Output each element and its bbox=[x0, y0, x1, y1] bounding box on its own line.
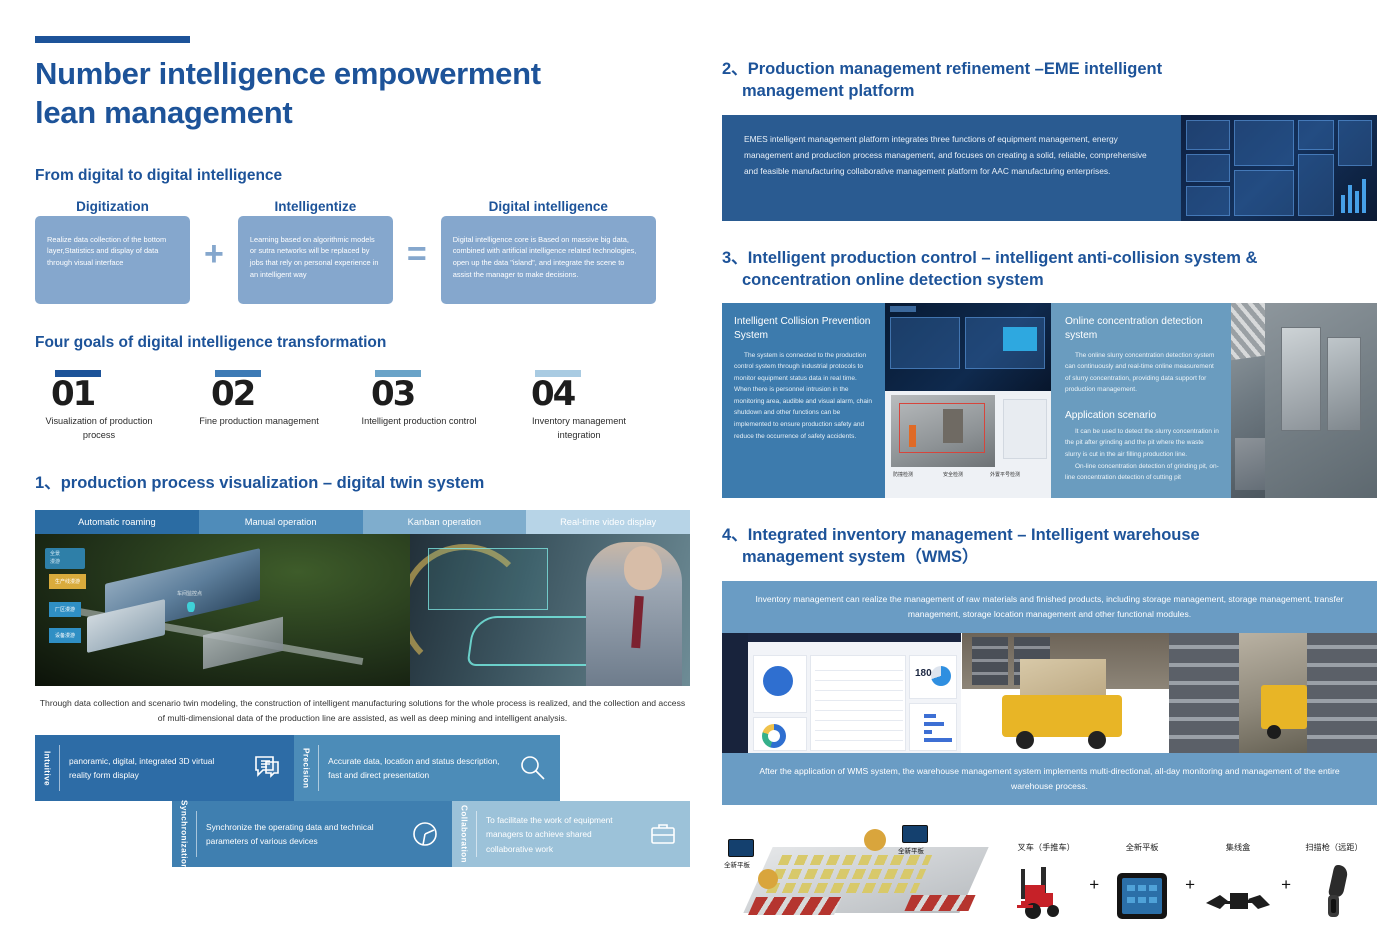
feature-vertical-label: Collaboration bbox=[452, 801, 476, 867]
warehouse-rack-left bbox=[1169, 633, 1239, 753]
tablet-icon bbox=[1099, 859, 1185, 921]
spacer bbox=[35, 801, 172, 867]
cabinet-unit bbox=[1327, 337, 1361, 431]
dashboard-panel bbox=[1298, 154, 1334, 216]
pie-chart-icon bbox=[398, 801, 452, 867]
kpi-gauge bbox=[931, 666, 951, 686]
forklift-warehouse-photo bbox=[962, 633, 1169, 753]
table-row-line bbox=[815, 730, 903, 731]
forklift-wheel bbox=[1267, 725, 1281, 739]
chart-bar bbox=[924, 714, 936, 718]
dashboard-titlebar bbox=[722, 633, 961, 642]
layout-trucks bbox=[748, 897, 842, 915]
dashboard-panel bbox=[1186, 120, 1230, 150]
tab-kanban-operation[interactable]: Kanban operation bbox=[363, 510, 527, 534]
wms-dashboard-screenshot: 180 bbox=[722, 633, 962, 753]
goal-item: 04 Inventory management integration bbox=[515, 370, 675, 442]
table-row-line bbox=[815, 690, 903, 691]
holo-schematic-panel bbox=[428, 548, 548, 610]
equipment-separator: + bbox=[1089, 875, 1099, 921]
person-detected bbox=[909, 425, 916, 447]
equipment-label: 扫描枪（远距） bbox=[1291, 841, 1377, 853]
twin-tabs: Automatic roaming Manual operation Kanba… bbox=[35, 510, 690, 534]
chart-bar bbox=[924, 730, 932, 734]
dti-body: Realize data collection of the bottom la… bbox=[35, 216, 190, 304]
section-four-goals: Four goals of digital intelligence trans… bbox=[35, 334, 690, 442]
map-pin-icon bbox=[187, 602, 195, 612]
tab-manual-operation[interactable]: Manual operation bbox=[199, 510, 363, 534]
section-2-heading-line2: management platform bbox=[722, 80, 1377, 102]
goal-item: 01 Visualization of production process bbox=[35, 370, 195, 442]
forklift-icon bbox=[1003, 859, 1089, 921]
dashboard-panel bbox=[1234, 120, 1294, 166]
magnifier-icon bbox=[506, 735, 560, 801]
tab-automatic-roaming[interactable]: Automatic roaming bbox=[35, 510, 199, 534]
feature-text: Synchronize the operating data and techn… bbox=[206, 801, 398, 867]
dashboard-panel bbox=[1338, 120, 1372, 166]
forklift-circle-badge-2 bbox=[758, 869, 778, 889]
equipment-label: 集线盒 bbox=[1195, 841, 1281, 853]
equipment-block bbox=[943, 409, 963, 443]
goal-item: 03 Intelligent production control bbox=[355, 370, 515, 442]
section-2-heading: 2、Production management refinement –EME … bbox=[722, 58, 1377, 103]
collision-system-screenshot: 防撞检测 安全检测 外置平号检测 bbox=[885, 303, 1051, 498]
section-4-heading-line2: management system（WMS） bbox=[722, 546, 1377, 568]
section-3-number: 3、 bbox=[722, 249, 748, 267]
barcode-scanner-icon bbox=[1291, 859, 1377, 921]
forklift-circle-badge bbox=[864, 829, 886, 851]
dashboard-panel bbox=[1298, 120, 1334, 150]
dti-caption: Intelligentize bbox=[238, 199, 393, 214]
table-row-line bbox=[815, 700, 903, 701]
section-1-number: 1、 bbox=[35, 474, 61, 492]
pipe-equipment-photo bbox=[1231, 303, 1265, 498]
equipment-tablet: 全新平板 bbox=[1099, 841, 1185, 921]
machinery-body bbox=[1235, 438, 1265, 490]
operator-equals: = bbox=[393, 199, 441, 271]
equipment-separator: + bbox=[1185, 875, 1195, 921]
section-from-digital: From digital to digital intelligence Dig… bbox=[35, 167, 690, 304]
goal-number: 01 bbox=[51, 377, 195, 413]
chart-bar bbox=[924, 722, 944, 726]
dashboard-logo bbox=[890, 306, 916, 312]
page-title-line2: lean management bbox=[35, 94, 690, 133]
section-1: 1、production process visualization – dig… bbox=[35, 472, 690, 867]
dti-card-digitization: Digitization Realize data collection of … bbox=[35, 199, 190, 304]
page-title-line1: Number intelligence empowerment bbox=[35, 55, 690, 94]
hub-box-icon bbox=[1195, 859, 1281, 921]
aerial-roaming-tag: 全景 漫游 bbox=[45, 548, 85, 569]
chart-bar bbox=[1348, 185, 1352, 213]
section-2-heading-line1: Production management refinement –EME in… bbox=[748, 60, 1162, 78]
warehouse-rack bbox=[972, 637, 1008, 685]
agv-wheel bbox=[1088, 731, 1106, 749]
chart-bar bbox=[1362, 179, 1366, 213]
twin-photo-row: 全景 漫游 生产线漫游 厂区漫游 设备漫游 车间监控点 bbox=[35, 534, 690, 686]
dti-body: Digital intelligence core is Based on ma… bbox=[441, 216, 656, 304]
screenshot-label: 外置平号检测 bbox=[990, 471, 1020, 478]
spacer bbox=[560, 735, 690, 801]
concentration-panel-body: The online slurry concentration detectio… bbox=[1065, 350, 1219, 396]
tab-realtime-video[interactable]: Real-time video display bbox=[526, 510, 690, 534]
chat-bubble-icon bbox=[240, 735, 294, 801]
table-row-line bbox=[815, 680, 903, 681]
map-label-right: 全新平板 bbox=[898, 845, 924, 855]
section-4-heading-line1: Integrated inventory management – Intell… bbox=[748, 526, 1200, 544]
warehouse-aisle-photo bbox=[1169, 633, 1377, 753]
section-1-heading-text: production process visualization – digit… bbox=[61, 474, 485, 492]
table-row-line bbox=[815, 740, 903, 741]
section-b-heading: Four goals of digital intelligence trans… bbox=[35, 334, 690, 352]
application-scenario-title: Application scenario bbox=[1065, 410, 1219, 421]
holographic-display-photo bbox=[410, 534, 690, 686]
feature-divider bbox=[59, 745, 60, 791]
dti-row: Digitization Realize data collection of … bbox=[35, 199, 690, 304]
dashboard-card-kpi: 180 bbox=[909, 655, 957, 699]
equipment-hub-box: 集线盒 bbox=[1195, 841, 1281, 921]
wms-footer-text: After the application of WMS system, the… bbox=[722, 753, 1377, 805]
aerial-chip-3[interactable]: 设备漫游 bbox=[49, 628, 81, 643]
feature-text: panoramic, digital, integrated 3D virtua… bbox=[69, 735, 240, 801]
warehouse-rack-right bbox=[1307, 633, 1377, 753]
dashboard-sidebar bbox=[722, 633, 748, 753]
equipment-label: 全新平板 bbox=[1099, 841, 1185, 853]
dti-caption: Digitization bbox=[35, 199, 190, 214]
aerial-parking-lot bbox=[203, 617, 283, 669]
donut-hole bbox=[768, 730, 780, 742]
layout-goods-row bbox=[778, 855, 932, 865]
control-cabinet-photo bbox=[1265, 303, 1377, 498]
feature-divider bbox=[318, 745, 319, 791]
operator-plus: + bbox=[190, 199, 238, 271]
goal-label: Visualization of production process bbox=[35, 415, 163, 442]
goal-label: Intelligent production control bbox=[355, 415, 483, 428]
collision-prevention-panel: Intelligent Collision Prevention System … bbox=[722, 303, 885, 498]
chart-bar bbox=[924, 738, 952, 742]
briefcase-icon bbox=[636, 801, 690, 867]
feature-quadrants: Intuitive panoramic, digital, integrated… bbox=[35, 735, 690, 867]
concentration-detection-panel: Online concentration detection system Th… bbox=[1051, 303, 1231, 498]
dti-card-digital-intelligence: Digital intelligence Digital intelligenc… bbox=[441, 199, 656, 304]
feature-vertical-label: Intuitive bbox=[35, 735, 59, 801]
section-3-heading: 3、Intelligent production control – intel… bbox=[722, 247, 1377, 292]
right-column: 2、Production management refinement –EME … bbox=[722, 0, 1377, 921]
section-3-heading-line1: Intelligent production control – intelli… bbox=[748, 249, 1258, 267]
monitoring-dashboard bbox=[885, 303, 1051, 391]
map-label-left: 全新平板 bbox=[724, 859, 750, 869]
screenshot-label: 防撞检测 bbox=[893, 471, 913, 478]
wms-media-row: 180 bbox=[722, 633, 1377, 753]
layout-trucks bbox=[904, 895, 975, 911]
application-scenario-body: It can be used to detect the slurry conc… bbox=[1065, 426, 1219, 461]
kpi-value: 180 bbox=[915, 668, 932, 679]
goal-number: 04 bbox=[531, 377, 675, 413]
feature-precision: Precision Accurate data, location and st… bbox=[294, 735, 560, 801]
feature-vertical-label: Precision bbox=[294, 735, 318, 801]
section-2-number: 2、 bbox=[722, 60, 748, 78]
person-head bbox=[624, 546, 662, 590]
wms-intro-text: Inventory management can realize the man… bbox=[722, 581, 1377, 633]
page-title: Number intelligence empowerment lean man… bbox=[35, 55, 690, 133]
section-1-heading: 1、production process visualization – dig… bbox=[35, 472, 690, 494]
infographic-page: Number intelligence empowerment lean man… bbox=[0, 0, 1400, 949]
equipment-separator: + bbox=[1281, 875, 1291, 921]
dashboard-panel bbox=[1186, 186, 1230, 216]
aerial-chip-2[interactable]: 厂区漫游 bbox=[49, 602, 81, 617]
stats-side-panel bbox=[1003, 399, 1047, 459]
equipment-scanner: 扫描枪（远距） bbox=[1291, 841, 1377, 921]
section-4: 4、Integrated inventory management – Inte… bbox=[722, 524, 1377, 921]
goal-number: 03 bbox=[371, 377, 515, 413]
collision-panel-body: The system is connected to the productio… bbox=[734, 350, 873, 443]
screenshot-label: 安全检测 bbox=[943, 471, 963, 478]
aerial-chip-1[interactable]: 生产线漫游 bbox=[49, 574, 86, 589]
concentration-panel-title: Online concentration detection system bbox=[1065, 315, 1219, 343]
equipment-items: 叉车（手推车） bbox=[1003, 841, 1377, 921]
dashboard-card-donut-2 bbox=[753, 717, 807, 751]
dti-body: Learning based on algorithmic models or … bbox=[238, 216, 393, 304]
warehouse-layout-diagram: 全新平板 全新平板 bbox=[722, 825, 1003, 921]
feature-row-bottom: Synchronization Synchronize the operatin… bbox=[35, 801, 690, 867]
equipment-label: 叉车（手推车） bbox=[1003, 841, 1089, 853]
section-1-caption: Through data collection and scenario twi… bbox=[35, 686, 690, 725]
title-rule bbox=[35, 36, 190, 43]
aerial-building-secondary bbox=[87, 599, 165, 653]
goal-item: 02 Fine production management bbox=[195, 370, 355, 442]
section-3: 3、Intelligent production control – intel… bbox=[722, 247, 1377, 499]
feature-vertical-label: Synchronization bbox=[172, 801, 196, 867]
agv-vehicle-body bbox=[1002, 695, 1122, 737]
dashboard-card-bars bbox=[909, 703, 957, 751]
equipment-row: 全新平板 全新平板 叉车（手推车） bbox=[722, 821, 1377, 921]
donut-chart bbox=[763, 666, 793, 696]
left-column: Number intelligence empowerment lean man… bbox=[35, 0, 690, 867]
goals-row: 01 Visualization of production process 0… bbox=[35, 370, 690, 442]
camera-feed-image bbox=[891, 395, 995, 467]
goal-number: 02 bbox=[211, 377, 355, 413]
dashboard-video-tile bbox=[1003, 327, 1037, 351]
section-2: 2、Production management refinement –EME … bbox=[722, 58, 1377, 221]
emes-description: EMES intelligent management platform int… bbox=[722, 115, 1181, 221]
pipe-bundle bbox=[1231, 303, 1265, 361]
feature-row-top: Intuitive panoramic, digital, integrated… bbox=[35, 735, 690, 801]
tablet-callout-icon-2 bbox=[902, 825, 928, 843]
section-4-heading: 4、Integrated inventory management – Inte… bbox=[722, 524, 1377, 569]
equipment-forklift: 叉车（手推车） bbox=[1003, 841, 1089, 921]
agv-wheel bbox=[1016, 731, 1034, 749]
feature-synchronization: Synchronization Synchronize the operatin… bbox=[172, 801, 452, 867]
table-row-line bbox=[815, 710, 903, 711]
dti-caption: Digital intelligence bbox=[441, 199, 656, 214]
emes-block: EMES intelligent management platform int… bbox=[722, 115, 1377, 221]
feature-intuitive: Intuitive panoramic, digital, integrated… bbox=[35, 735, 294, 801]
goal-label: Fine production management bbox=[195, 415, 323, 428]
feature-collaboration: Collaboration To facilitate the work of … bbox=[452, 801, 690, 867]
dashboard-panel bbox=[1186, 154, 1230, 182]
section-a-heading: From digital to digital intelligence bbox=[35, 167, 690, 185]
goal-label: Inventory management integration bbox=[515, 415, 643, 442]
cabinet-unit bbox=[1281, 327, 1321, 431]
table-row-line bbox=[815, 720, 903, 721]
tablet-callout-icon bbox=[728, 839, 754, 857]
section-4-number: 4、 bbox=[722, 526, 748, 544]
feature-text: Accurate data, location and status descr… bbox=[328, 735, 506, 801]
dashboard-table bbox=[890, 317, 960, 369]
forklift-body bbox=[1261, 685, 1307, 729]
digital-twin-panel: Automatic roaming Manual operation Kanba… bbox=[35, 510, 690, 867]
emes-dashboard-screenshot bbox=[1181, 115, 1377, 221]
aerial-factory-photo: 全景 漫游 生产线漫游 厂区漫游 设备漫游 车间监控点 bbox=[35, 534, 410, 686]
chart-bar bbox=[1355, 191, 1359, 213]
section-3-heading-line2: concentration online detection system bbox=[722, 269, 1377, 291]
section-3-panels: Intelligent Collision Prevention System … bbox=[722, 303, 1377, 498]
chart-bar bbox=[1341, 195, 1345, 213]
dashboard-card-donut bbox=[753, 655, 807, 713]
aerial-pin-label: 车间监控点 bbox=[177, 590, 202, 597]
dashboard-panel bbox=[1234, 170, 1294, 216]
feature-divider bbox=[196, 811, 197, 857]
layout-goods-row bbox=[766, 883, 920, 893]
application-scenario-body-2: On-line concentration detection of grind… bbox=[1065, 461, 1219, 484]
collision-panel-title: Intelligent Collision Prevention System bbox=[734, 315, 873, 343]
dashboard-card-table bbox=[810, 655, 906, 751]
layout-goods-row bbox=[772, 869, 926, 879]
table-row-line bbox=[815, 670, 903, 671]
feature-text: To facilitate the work of equipment mana… bbox=[486, 801, 636, 867]
dti-card-intelligentize: Intelligentize Learning based on algorit… bbox=[238, 199, 393, 304]
feature-divider bbox=[476, 811, 477, 857]
